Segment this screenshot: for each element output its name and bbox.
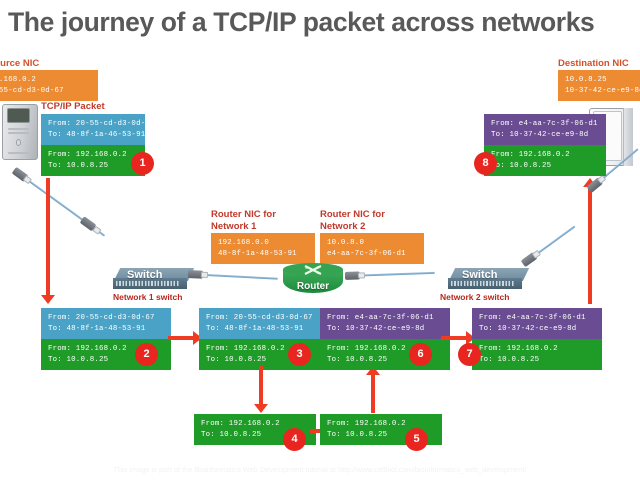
switch-1-name: Switch [127,269,162,281]
router-arrows-icon [304,264,322,276]
router-nic-2-mac: e4-aa-7c-3f-06-d1 [327,250,406,258]
arrow-step-1-to-2 [41,178,55,304]
packet-6-ethernet-layer: From: e4-aa-7c-3f-06-d1 To: 10-37-42-ce-… [320,308,450,339]
step-badge-1: 1 [131,152,154,175]
arrow-step-5-to-6 [366,366,380,413]
cable-wire [353,272,435,277]
switch2-uplink-cable [521,220,582,268]
watermark-footer: This image is part of the Bioinformatics… [0,465,640,474]
network-1-switch-label: Network 1 switch [113,292,182,302]
page-title: The journey of a TCP/IP packet across ne… [8,2,640,42]
packet-1-ethernet-layer: From: 20-55-cd-d3-0d-67 To: 48-8f-1a-46-… [41,114,145,145]
step-badge-2: 2 [135,343,158,366]
source-nic-box: 192.168.0.220-55-cd-d3-0d-67 [0,70,98,101]
switch-2-name: Switch [462,269,497,281]
pc-display-panel [7,108,29,123]
diagram-canvas: The journey of a TCP/IP packet across ne… [0,0,640,480]
arrow-shaft [588,187,592,304]
packet-1-ip-layer: From: 192.168.0.2 To: 10.0.8.25 [41,145,145,176]
arrow-shaft [441,336,468,340]
arrow-step-7-to-8 [583,178,597,304]
arrow-head [254,404,268,413]
router-nic-1-caption: Router NIC for Network 1 [211,209,276,232]
pc-drive-slot [8,132,30,134]
tcpip-packet-caption: TCP/IP Packet [41,101,105,113]
packet-2-ethernet-layer: From: 20-55-cd-d3-0d-67 To: 48-8f-1a-48-… [41,308,171,339]
source-ethernet-cable [12,167,112,243]
switch-ports [116,281,180,286]
network-2-switch-label: Network 2 switch [440,292,509,302]
switch-ports [451,281,515,286]
packet-8-ip-layer: From: 192.168.0.2 To: 10.0.8.25 [484,145,606,176]
step-badge-5: 5 [405,428,428,451]
packet-3-ethernet-layer: From: 20-55-cd-d3-0d-67 To: 48-8f-1a-48-… [199,308,329,339]
router-name: Router [283,281,343,292]
packet-box-8: From: e4-aa-7c-3f-06-d1 To: 10-37-42-ce-… [484,114,606,176]
router-switch2-cable [345,269,441,280]
router-nic-2-ip: 10.0.8.0 [327,239,364,247]
router-icon: Router [283,263,343,297]
arrow-shaft [259,366,263,404]
packet-7-ethernet-layer: From: e4-aa-7c-3f-06-d1 To: 10-37-42-ce-… [472,308,602,339]
destination-nic-box: 10.0.8.2510-37-42-ce-e9-8d [558,70,640,101]
router-nic-1-ip: 192.168.0.0 [218,239,269,247]
packet-8-ethernet-layer: From: e4-aa-7c-3f-06-d1 To: 10-37-42-ce-… [484,114,606,145]
step-badge-4: 4 [283,428,306,451]
packet-box-1: From: 20-55-cd-d3-0d-67 To: 48-8f-1a-46-… [41,114,145,176]
router-nic-2-box: 10.0.8.0e4-aa-7c-3f-06-d1 [320,233,424,264]
step-badge-3: 3 [288,343,311,366]
arrow-shaft [168,336,195,340]
source-nic-caption: Source NIC [0,58,39,70]
router-nic-1-box: 192.168.0.048-8f-1a-48-53-91 [211,233,315,264]
switch1-router-cable [188,270,284,283]
source-computer-icon [2,104,38,160]
router-nic-1-mac: 48-8f-1a-48-53-91 [218,250,297,258]
arrow-head [41,295,55,304]
arrow-shaft [46,178,50,295]
network-2-switch-icon: Switch [448,268,526,290]
network-1-switch-icon: Switch [113,268,191,290]
source-nic-ip: 192.168.0.2 [0,76,36,84]
pc-drive-slot [8,128,30,130]
step-badge-6: 6 [409,343,432,366]
destination-nic-mac: 10-37-42-ce-e9-8d [565,87,640,95]
packet-box-7: From: e4-aa-7c-3f-06-d1 To: 10-37-42-ce-… [472,308,602,370]
packet-box-6: From: e4-aa-7c-3f-06-d1 To: 10-37-42-ce-… [320,308,450,370]
arrow-step-3-to-4 [254,366,268,413]
router-nic-2-caption: Router NIC for Network 2 [320,209,385,232]
source-nic-mac: 20-55-cd-d3-0d-67 [0,87,64,95]
arrow-step-2-to-3 [168,331,202,345]
destination-nic-caption: Destination NIC [558,58,629,70]
packet-box-3: From: 20-55-cd-d3-0d-67 To: 48-8f-1a-48-… [199,308,329,370]
cable-wire [196,273,278,280]
cable-tip [358,272,365,278]
cable-tip [201,272,208,278]
destination-nic-ip: 10.0.8.25 [565,76,607,84]
step-badge-7: 7 [458,343,481,366]
arrow-shaft [371,375,375,413]
step-badge-8: 8 [474,152,497,175]
packet-7-ip-layer: From: 192.168.0.2 To: 10.0.8.25 [472,339,602,370]
